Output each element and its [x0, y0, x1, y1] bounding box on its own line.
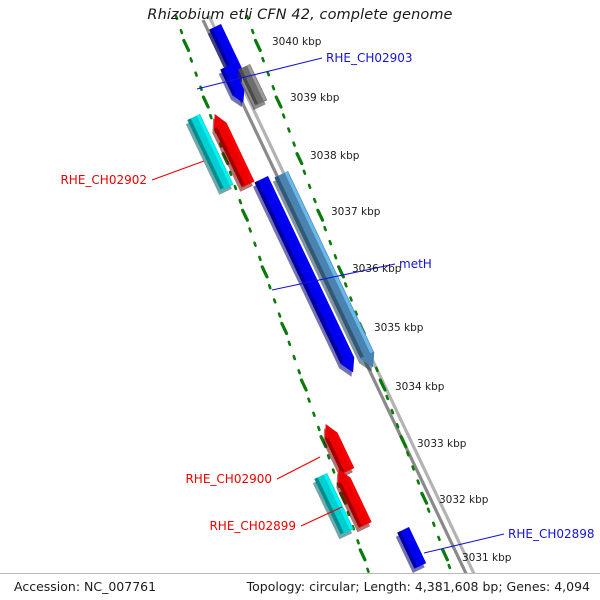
gene-feature[interactable] [316, 421, 355, 478]
scale-tick-label: 3036 kbp [352, 263, 402, 275]
scale-tick-label: 3034 kbp [395, 381, 445, 393]
scale-tick-label: 3037 kbp [331, 206, 381, 218]
scale-tick-label: 3035 kbp [374, 322, 424, 334]
genome-map-svg[interactable]: RHE_CH02903metHRHE_CH02898RHE_CH02902RHE… [0, 0, 600, 600]
gene-label[interactable]: metH [399, 257, 432, 271]
gene-label[interactable]: RHE_CH02899 [209, 519, 296, 533]
scale-tick-label: 3031 kbp [462, 552, 512, 564]
genome-viewer-canvas: Rhizobium etli CFN 42, complete genome R… [0, 0, 600, 600]
gene-label-leader-line [152, 161, 204, 180]
scale-tick-label: 3033 kbp [417, 438, 467, 450]
scale-tick-label: 3039 kbp [290, 92, 340, 104]
genome-summary-text: Topology: circular; Length: 4,381,608 bp… [247, 579, 590, 594]
scale-tick-label: 3032 kbp [439, 494, 489, 506]
page-title: Rhizobium etli CFN 42, complete genome [0, 7, 600, 23]
gene-label[interactable]: RHE_CH02898 [508, 527, 595, 541]
scale-tick-label: 3040 kbp [272, 36, 322, 48]
status-bar: Accession: NC_007761 Topology: circular;… [0, 573, 600, 600]
gene-label[interactable]: RHE_CH02900 [185, 472, 272, 486]
gene-label-leader-line [277, 457, 320, 479]
gene-label[interactable]: RHE_CH02902 [60, 173, 147, 187]
accession-text: Accession: NC_007761 [14, 579, 156, 594]
feature-layer[interactable] [184, 24, 427, 573]
gene-label[interactable]: RHE_CH02903 [326, 51, 413, 65]
scale-tick-label: 3038 kbp [310, 150, 360, 162]
gene-feature[interactable] [394, 527, 427, 573]
